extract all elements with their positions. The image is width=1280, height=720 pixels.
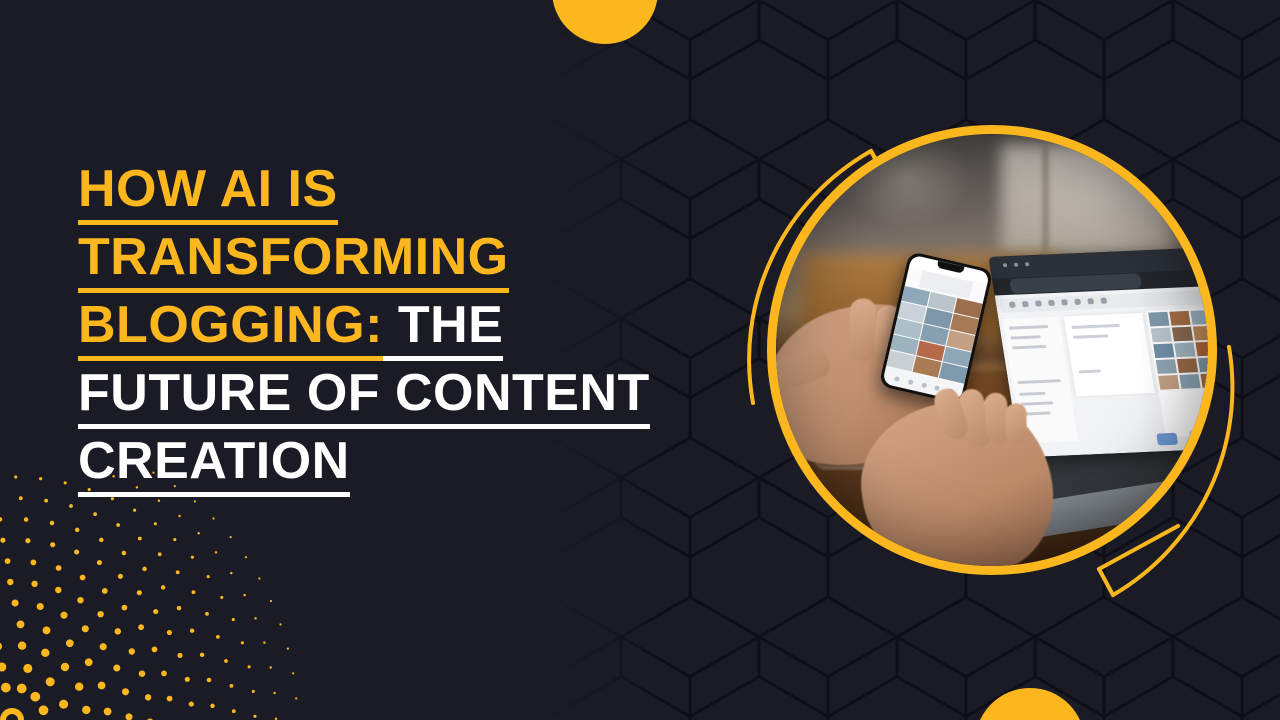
headline-line-1: HOW AI IS — [78, 158, 718, 220]
headline-segment: FUTURE OF CONTENT — [78, 364, 650, 429]
hero-photo — [767, 125, 1217, 575]
poster-canvas: HOW AI IS TRANSFORMING BLOGGING: THE FUT… — [0, 0, 1280, 720]
headline-segment: THE — [383, 296, 503, 361]
photo-scene — [776, 134, 1208, 566]
headline-segment: HOW AI IS — [78, 160, 338, 225]
decor-circle-top — [552, 0, 658, 44]
decor-circle-bottom — [975, 688, 1085, 720]
page-title: HOW AI IS TRANSFORMING BLOGGING: THE FUT… — [78, 158, 718, 498]
headline-line-2: TRANSFORMING — [78, 226, 718, 288]
headline-segment: BLOGGING: — [78, 296, 383, 361]
headline-segment: CREATION — [78, 432, 350, 497]
headline-segment: TRANSFORMING — [78, 228, 509, 293]
halftone-dot-burst — [0, 470, 300, 720]
hero-photo-frame — [741, 125, 1241, 625]
headline-line-4: FUTURE OF CONTENT — [78, 362, 718, 424]
headline-line-3: BLOGGING: THE — [78, 294, 718, 356]
headline-line-5: CREATION — [78, 430, 718, 492]
